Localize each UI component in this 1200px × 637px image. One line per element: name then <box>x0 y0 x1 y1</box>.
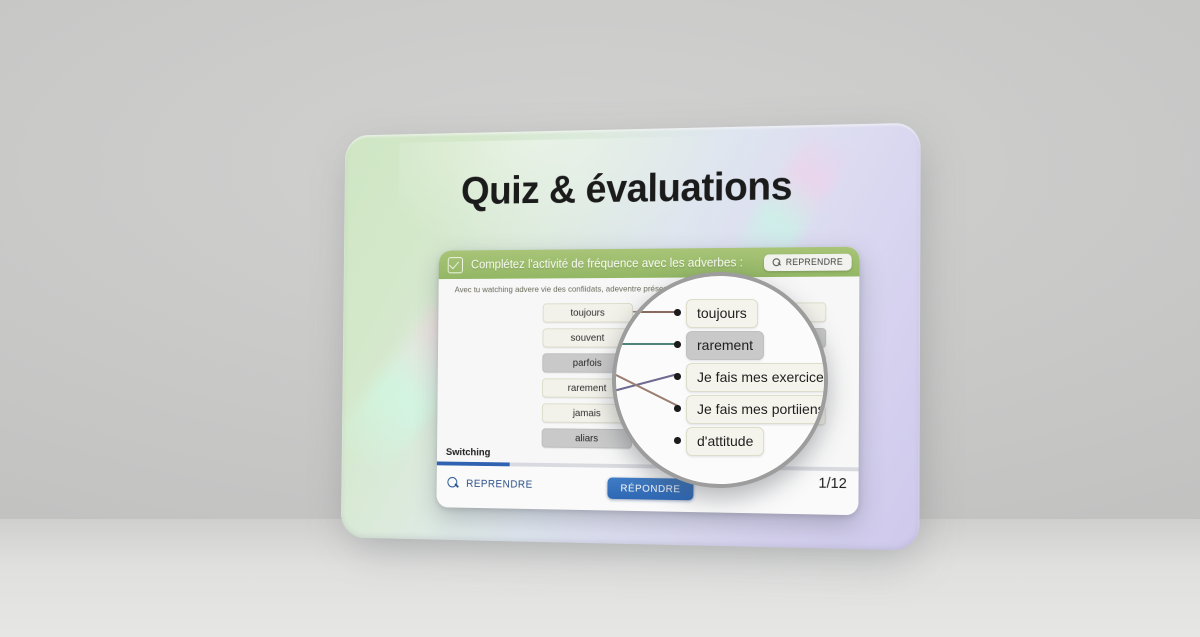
header-restart-button[interactable]: REPRENDRE <box>764 253 852 270</box>
magnified-chip-label: d'attitude <box>697 433 753 449</box>
chip-label: aliars <box>575 432 598 444</box>
quiz-header: Complétez l'activité de fréquence avec l… <box>439 247 860 279</box>
magnified-chip[interactable]: toujours <box>686 299 758 328</box>
chip-label: souvent <box>570 332 604 344</box>
magnified-dot[interactable] <box>674 437 681 444</box>
checkbox-checked-icon <box>448 257 463 273</box>
chip-label: rarement <box>568 382 607 394</box>
magnified-chip-label: Je fais mes portiiens... <box>697 401 828 417</box>
magnified-dot[interactable] <box>674 405 681 412</box>
magnified-dot[interactable] <box>674 341 681 348</box>
magnified-chip[interactable]: Je fais mes exercices... <box>686 363 828 392</box>
progress-fill <box>437 461 510 465</box>
magnified-chip-label: rarement <box>697 337 753 353</box>
magnifier-lens: toujours rarement Je fais mes exercices.… <box>612 272 828 488</box>
magnified-chip[interactable]: Je fais mes portiiens... <box>686 395 828 424</box>
magnified-dot[interactable] <box>674 309 681 316</box>
chip-label: parfois <box>573 357 602 369</box>
restart-button[interactable]: REPRENDRE <box>447 477 532 491</box>
magnified-chip[interactable]: d'attitude <box>686 427 764 456</box>
header-restart-label: REPRENDRE <box>786 257 843 267</box>
chip-label: toujours <box>570 307 604 319</box>
magnified-chip-label: Je fais mes exercices... <box>697 369 828 385</box>
quiz-instruction: Complétez l'activité de fréquence avec l… <box>471 256 743 272</box>
chip-label: jamais <box>573 407 601 419</box>
magnified-chip-label: toujours <box>697 305 747 321</box>
search-icon <box>772 258 781 267</box>
magnifier-content: toujours rarement Je fais mes exercices.… <box>616 276 824 484</box>
page-title: Quiz & évaluations <box>344 160 920 215</box>
status-label: Switching <box>446 446 491 458</box>
search-icon <box>447 477 459 490</box>
magnified-dot[interactable] <box>674 373 681 380</box>
restart-label: REPRENDRE <box>466 478 533 491</box>
magnified-chip[interactable]: rarement <box>686 331 764 360</box>
